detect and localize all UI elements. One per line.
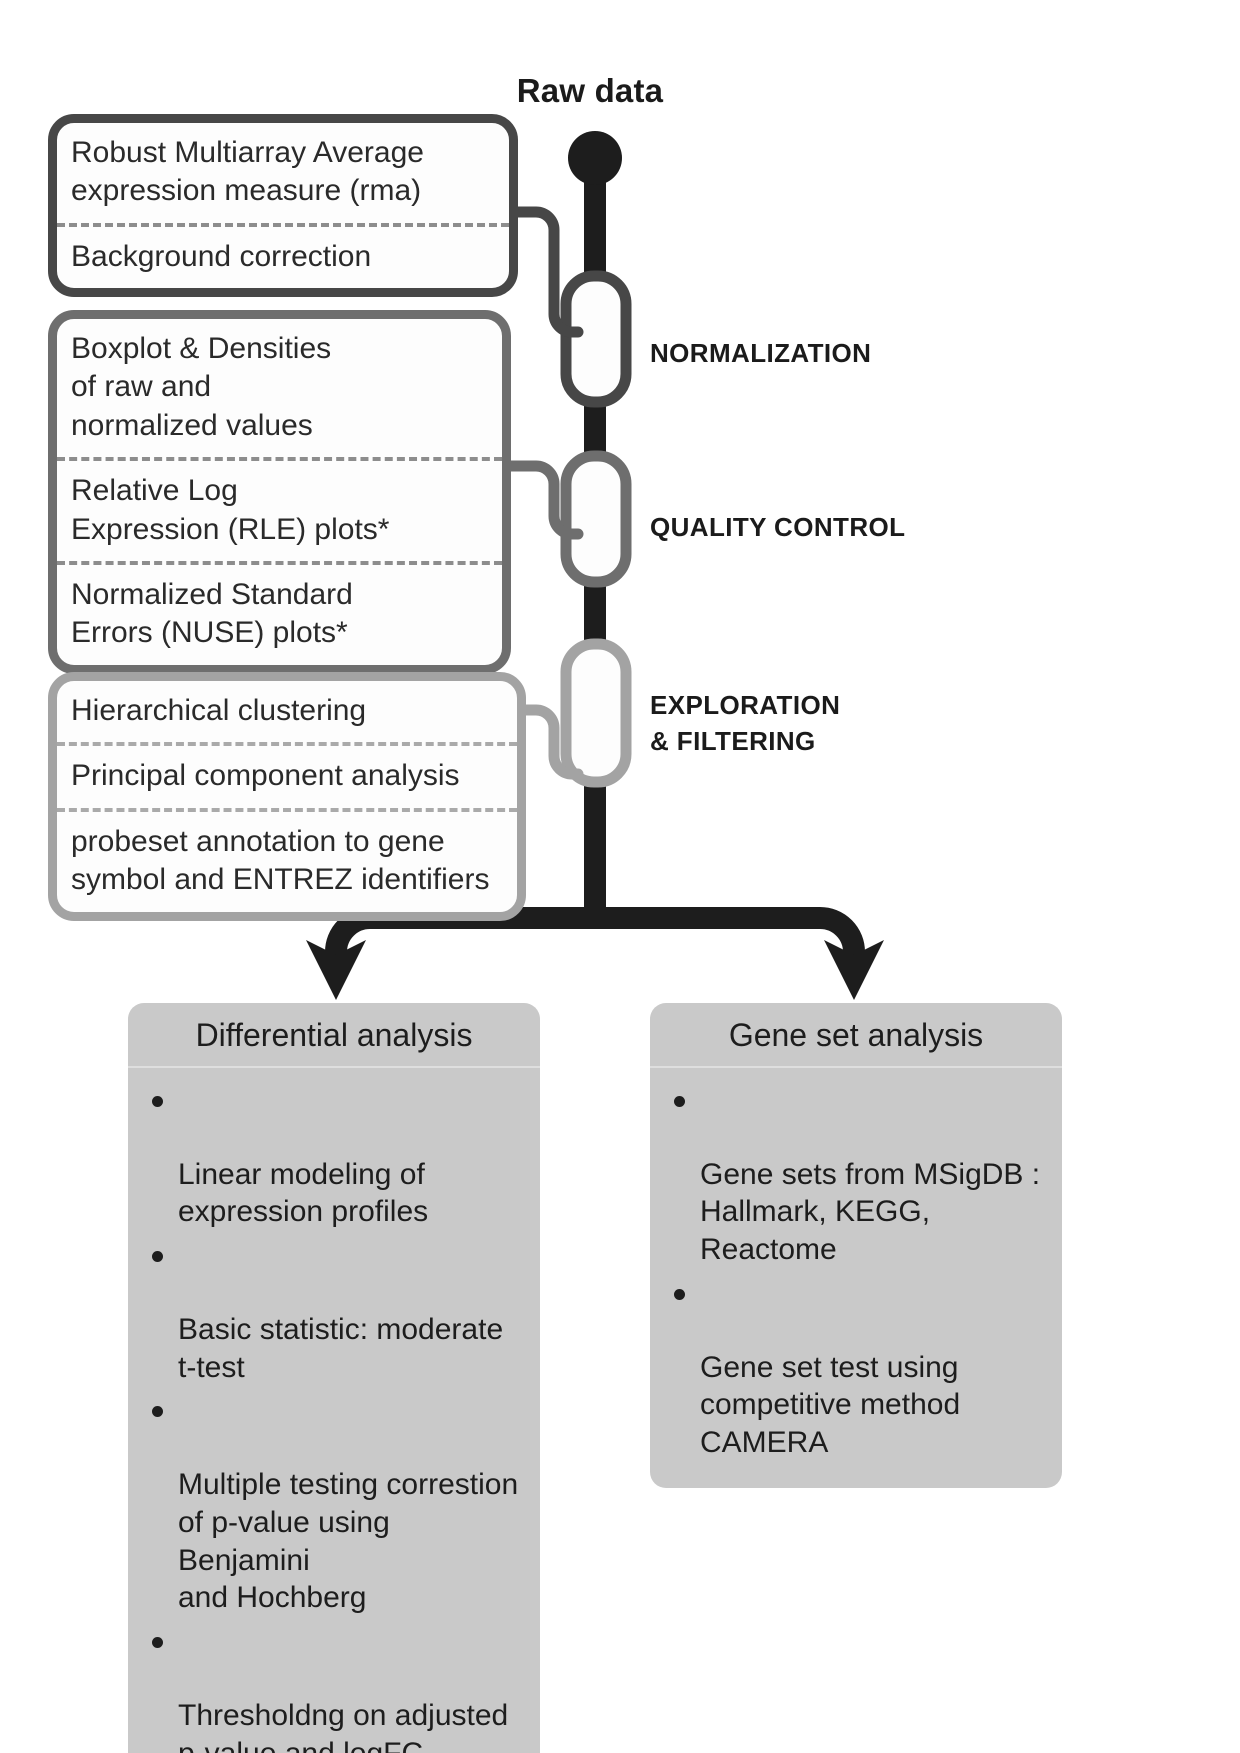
- list-item-label: Gene sets from MSigDB : Hallmark, KEGG, …: [700, 1158, 1040, 1267]
- raw-data-title: Raw data: [440, 72, 740, 110]
- stage-pill-quality-control: [566, 456, 626, 582]
- list-item: Linear modeling of expression profiles: [146, 1080, 522, 1231]
- stage-card-quality-control: Boxplot & Densities of raw and normalize…: [48, 310, 511, 674]
- panel-title: Differential analysis: [128, 1003, 540, 1068]
- list-item: Multiple testing correstion of p-value u…: [146, 1390, 522, 1617]
- bullet-icon: [674, 1096, 685, 1107]
- bullet-icon: [674, 1289, 685, 1300]
- stage-pill-normalization: [566, 276, 626, 402]
- output-panel-differential-analysis: Differential analysis Linear modeling of…: [128, 1003, 540, 1753]
- bullet-icon: [152, 1406, 163, 1417]
- list-item: Thresholdng on adjusted p-value and logF…: [146, 1621, 522, 1753]
- list-item-label: Thresholdng on adjusted p-value and logF…: [178, 1699, 508, 1753]
- panel-title: Gene set analysis: [650, 1003, 1062, 1068]
- branch-line-right: [595, 918, 854, 962]
- list-item-label: Linear modeling of expression profiles: [178, 1158, 428, 1229]
- bullet-icon: [152, 1637, 163, 1648]
- list-item-label: Multiple testing correstion of p-value u…: [178, 1468, 518, 1614]
- stage-step: Robust Multiarray Average expression mea…: [57, 123, 509, 223]
- bullet-icon: [152, 1096, 163, 1107]
- output-panel-gene-set-analysis: Gene set analysis Gene sets from MSigDB …: [650, 1003, 1062, 1488]
- panel-item-list: Linear modeling of expression profiles B…: [128, 1068, 540, 1753]
- stage-step: Principal component analysis: [57, 742, 517, 807]
- list-item: Basic statistic: moderate t-test: [146, 1235, 522, 1386]
- stage-card-normalization: Robust Multiarray Average expression mea…: [48, 114, 518, 297]
- stage-step: Relative Log Expression (RLE) plots*: [57, 457, 502, 561]
- stage-step: Normalized Standard Errors (NUSE) plots*: [57, 561, 502, 665]
- stage-label-exploration-filtering: EXPLORATION & FILTERING: [650, 688, 840, 760]
- list-item: Gene sets from MSigDB : Hallmark, KEGG, …: [668, 1080, 1044, 1269]
- list-item-label: Gene set test using competitive method C…: [700, 1351, 960, 1460]
- stage-pill-exploration-filtering: [566, 644, 626, 782]
- bullet-icon: [152, 1251, 163, 1262]
- panel-item-list: Gene sets from MSigDB : Hallmark, KEGG, …: [650, 1068, 1062, 1488]
- stage-label-quality-control: QUALITY CONTROL: [650, 510, 905, 546]
- list-item: Gene set test using competitive method C…: [668, 1273, 1044, 1462]
- stage-label-normalization: NORMALIZATION: [650, 336, 871, 372]
- raw-data-node-dot: [568, 131, 622, 185]
- stage-step: Hierarchical clustering: [57, 681, 517, 742]
- stage-card-exploration-filtering: Hierarchical clustering Principal compon…: [48, 672, 526, 921]
- list-item-label: Basic statistic: moderate t-test: [178, 1313, 503, 1384]
- stage-step: Background correction: [57, 223, 509, 288]
- stage-step: probeset annotation to gene symbol and E…: [57, 808, 517, 912]
- workflow-diagram: Raw data NORMALIZATION QUALITY CONTROL E…: [0, 0, 1240, 1753]
- stage-step: Boxplot & Densities of raw and normalize…: [57, 319, 502, 457]
